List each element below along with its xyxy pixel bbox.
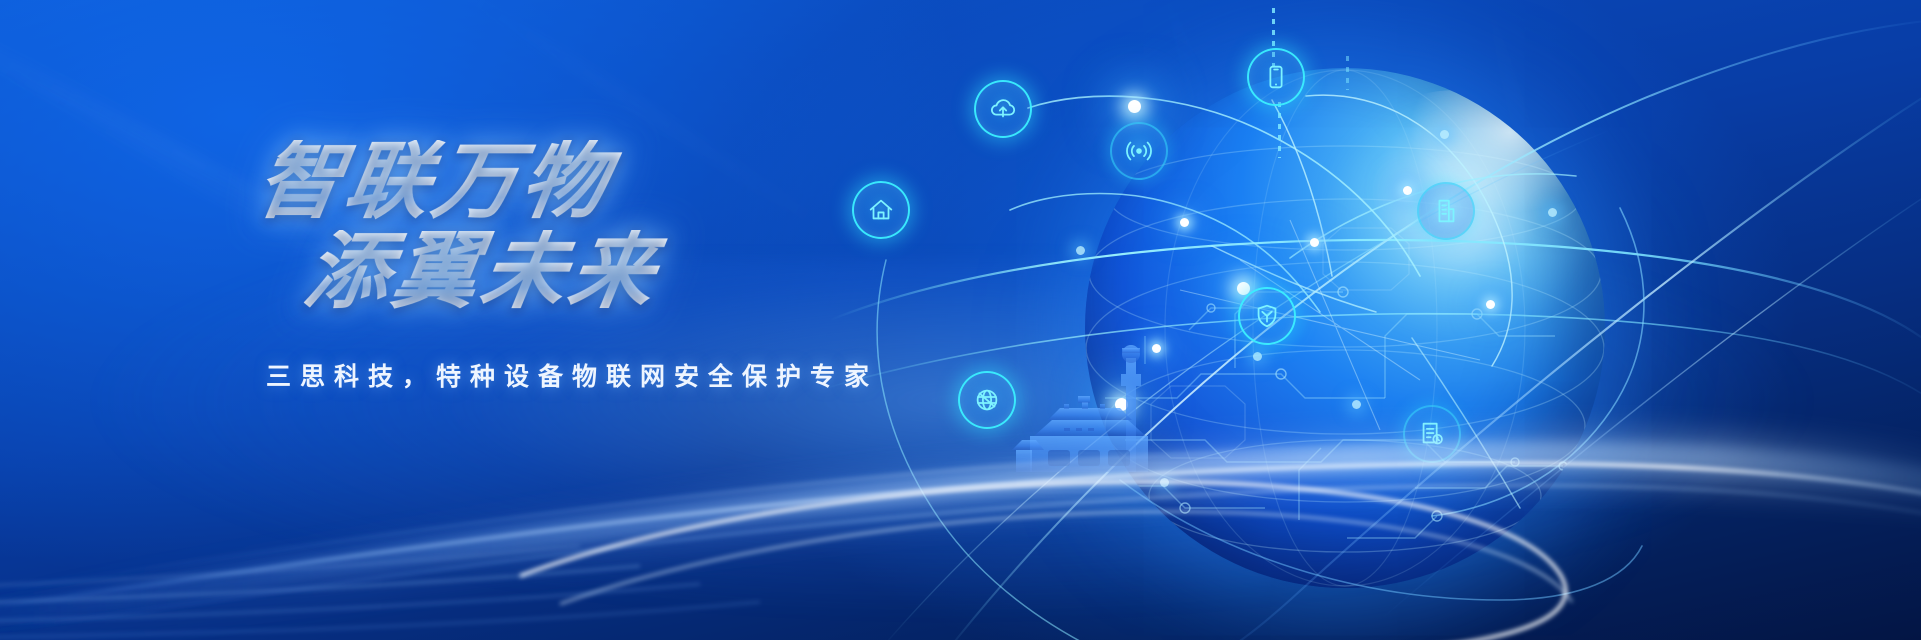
glow-node — [1486, 300, 1495, 309]
glow-node — [1548, 208, 1557, 217]
glow-node — [1440, 130, 1449, 139]
hero-copy: 智联万物 添翼未来 三思科技，特种设备物联网安全保护专家 — [250, 140, 1010, 393]
cloud-upload-glyph — [988, 94, 1018, 124]
hero-subtitle: 三思科技，特种设备物联网安全保护专家 — [266, 357, 1010, 393]
wifi-signal-glyph — [1124, 136, 1154, 166]
wifi-signal-icon[interactable] — [1110, 122, 1168, 180]
mobile-phone-glyph — [1261, 62, 1291, 92]
glow-node — [1253, 352, 1262, 361]
glow-node — [1128, 100, 1141, 113]
building-icon[interactable] — [1417, 182, 1475, 240]
shield-glyph — [1252, 301, 1282, 331]
glow-node — [1160, 478, 1169, 487]
glow-node — [1403, 186, 1412, 195]
report-document-icon[interactable] — [1403, 405, 1461, 463]
cloud-upload-icon[interactable] — [974, 80, 1032, 138]
mobile-phone-icon[interactable] — [1247, 48, 1305, 106]
headline-line-1: 智联万物 — [251, 140, 1016, 222]
hero-banner: 智联万物 添翼未来 三思科技，特种设备物联网安全保护专家 — [0, 0, 1921, 640]
report-document-glyph — [1417, 419, 1447, 449]
glow-node — [1115, 398, 1128, 411]
glow-node — [1310, 238, 1319, 247]
shield-icon[interactable] — [1238, 287, 1296, 345]
dotted-connector — [1278, 102, 1281, 158]
glow-node — [1352, 400, 1361, 409]
glow-node — [1180, 218, 1189, 227]
glow-node — [1076, 246, 1085, 255]
dotted-connector — [1346, 56, 1349, 90]
headline-line-2: 添翼未来 — [299, 230, 1016, 312]
building-glyph — [1431, 196, 1461, 226]
glow-node — [1152, 344, 1161, 353]
